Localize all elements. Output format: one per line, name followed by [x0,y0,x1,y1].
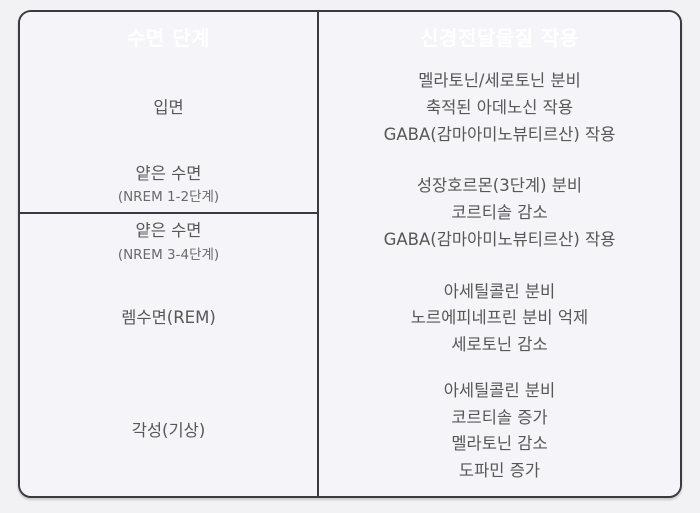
stage-label-awakening: 각성(기상) [20,419,317,444]
stage-sublabel-nrem12: (NREM 1-2단계) [20,187,317,207]
column-header-neurotransmitter: 신경전달물질 작용 [318,12,680,60]
neuro-line: 아세틸콜린 분비 [319,378,680,405]
table-row-onset: 입면 멜라토닌/세로토닌 분비 축적된 아데노신 작용 GABA(감마아미노뷰티… [20,60,680,157]
neuro-line: 세로토닌 감소 [319,332,680,359]
sleep-stage-table: 수면 단계 신경전달물질 작용 입면 멜라토닌/세로토닌 분비 축적된 아데노신… [20,12,680,496]
neuro-line: 성장호르몬(3단계) 분비 [319,173,680,200]
stage-cell-awakening: 각성(기상) [20,367,318,496]
table-row-awakening: 각성(기상) 아세틸콜린 분비 코르티솔 증가 멜라토닌 감소 도파민 증가 [20,367,680,496]
neuro-line: 멜라토닌 감소 [319,431,680,458]
neuro-line: 아세틸콜린 분비 [319,279,680,306]
stage-cell-light-sleep-nrem34: 얕은 수면 (NREM 3-4단계) [20,213,318,270]
sleep-stage-table-container: 수면 단계 신경전달물질 작용 입면 멜라토닌/세로토닌 분비 축적된 아데노신… [18,10,682,498]
neuro-cell-light-sleep: 성장호르몬(3단계) 분비 코르티솔 감소 GABA(감마아미노뷰티르산) 작용 [318,157,680,270]
header-row: 수면 단계 신경전달물질 작용 [20,12,680,60]
stage-sublabel-nrem34: (NREM 3-4단계) [20,245,317,265]
neuro-line: 코르티솔 증가 [319,405,680,432]
neuro-cell-onset: 멜라토닌/세로토닌 분비 축적된 아데노신 작용 GABA(감마아미노뷰티르산)… [318,60,680,157]
neuro-line: GABA(감마아미노뷰티르산) 작용 [319,122,680,149]
table-row-light-sleep-nrem12: 얕은 수면 (NREM 1-2단계) 성장호르몬(3단계) 분비 코르티솔 감소… [20,157,680,214]
neuro-line: 축적된 아데노신 작용 [319,95,680,122]
neuro-line: 코르티솔 감소 [319,200,680,227]
neuro-cell-rem: 아세틸콜린 분비 노르에피네프린 분비 억제 세로토닌 감소 [318,270,680,367]
table-body: 입면 멜라토닌/세로토닌 분비 축적된 아데노신 작용 GABA(감마아미노뷰티… [20,60,680,496]
stage-cell-onset: 입면 [20,60,318,157]
stage-label-onset: 입면 [20,96,317,121]
stage-label-light-sleep: 얕은 수면 [20,162,317,187]
table-header: 수면 단계 신경전달물질 작용 [20,12,680,60]
neuro-line: GABA(감마아미노뷰티르산) 작용 [319,227,680,254]
stage-cell-light-sleep-nrem12: 얕은 수면 (NREM 1-2단계) [20,157,318,214]
stage-cell-rem: 렘수면(REM) [20,270,318,367]
neuro-line: 노르에피네프린 분비 억제 [319,305,680,332]
neuro-line: 멜라토닌/세로토닌 분비 [319,68,680,95]
stage-label-light-sleep: 얕은 수면 [20,219,317,244]
neuro-cell-awakening: 아세틸콜린 분비 코르티솔 증가 멜라토닌 감소 도파민 증가 [318,367,680,496]
stage-label-rem: 렘수면(REM) [20,306,317,331]
neuro-line: 도파민 증가 [319,458,680,485]
column-header-sleep-stage: 수면 단계 [20,12,318,60]
table-row-rem: 렘수면(REM) 아세틸콜린 분비 노르에피네프린 분비 억제 세로토닌 감소 [20,270,680,367]
